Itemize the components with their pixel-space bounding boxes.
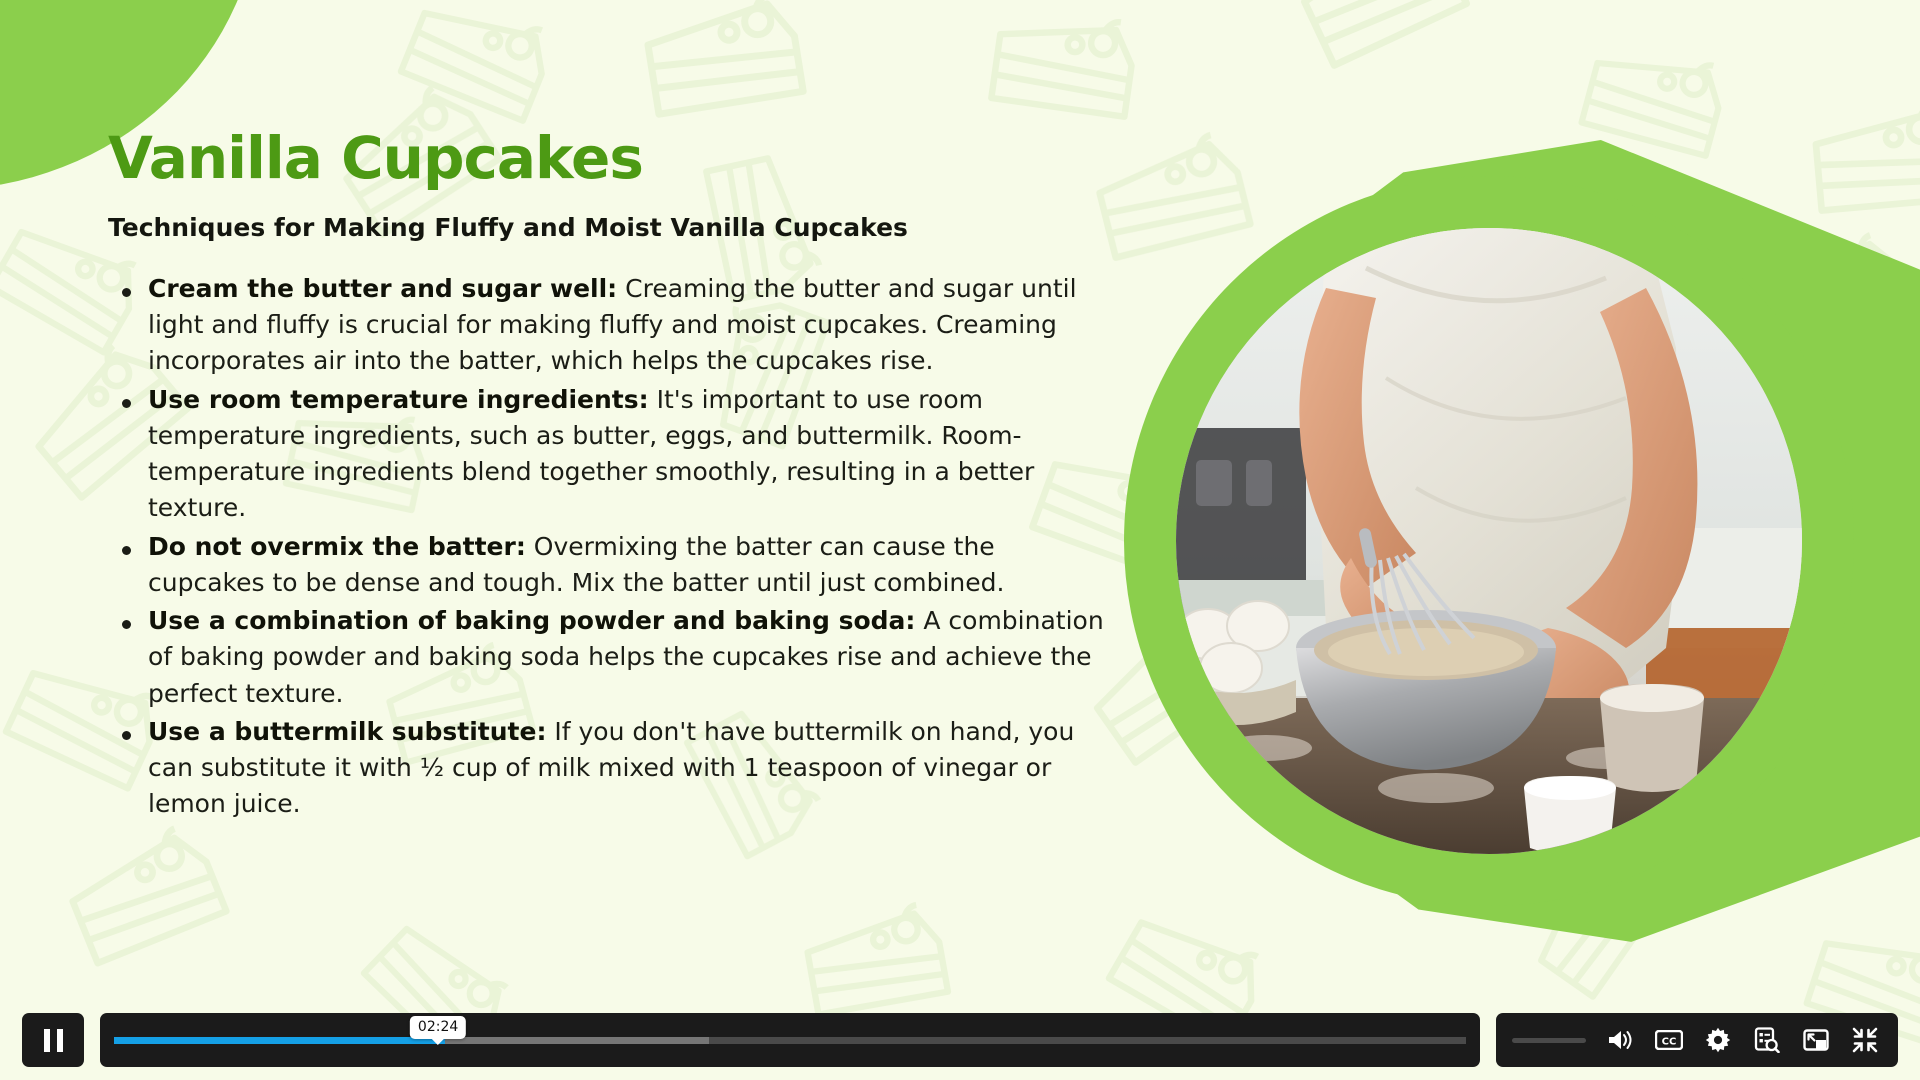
time-tooltip: 02:24 [410,1016,466,1039]
transcript-search-icon[interactable] [1752,1025,1782,1055]
volume-slider[interactable] [1512,1038,1586,1043]
list-item: Use a combination of baking powder and b… [108,603,1108,712]
list-item: Do not overmix the batter: Overmixing th… [108,529,1108,602]
seek-bar[interactable] [114,1037,1466,1044]
video-player-controls: 02:24 CC [0,1000,1920,1080]
list-item: Use room temperature ingredients: It's i… [108,382,1108,527]
list-item-lead: Use a combination of baking powder and b… [148,606,915,635]
page-title: Vanilla Cupcakes [108,128,1108,189]
slide-stage: Vanilla Cupcakes Techniques for Making F… [0,0,1920,1080]
list-item-lead: Cream the butter and sugar well: [148,274,617,303]
picture-in-picture-icon[interactable] [1801,1025,1831,1055]
closed-captions-icon[interactable]: CC [1654,1025,1684,1055]
exit-fullscreen-icon[interactable] [1850,1025,1880,1055]
progress-bar-container: 02:24 [100,1013,1480,1067]
svg-text:CC: CC [1662,1037,1677,1048]
list-item-lead: Use room temperature ingredients: [148,385,649,414]
settings-gear-icon[interactable] [1703,1025,1733,1055]
player-right-controls: CC [1496,1013,1898,1067]
pause-icon [44,1029,63,1052]
slide-subtitle: Techniques for Making Fluffy and Moist V… [108,213,1108,243]
baking-photo [1176,228,1802,854]
volume-icon[interactable] [1605,1025,1635,1055]
tips-list: Cream the butter and sugar well: Creamin… [108,271,1108,823]
list-item: Cream the butter and sugar well: Creamin… [108,271,1108,380]
played-range [114,1037,445,1044]
list-item-lead: Do not overmix the batter: [148,532,526,561]
list-item-lead: Use a buttermilk substitute: [148,717,546,746]
list-item: Use a buttermilk substitute: If you don'… [108,714,1108,823]
pause-button[interactable] [22,1013,84,1067]
slide-content: Vanilla Cupcakes Techniques for Making F… [108,128,1108,825]
